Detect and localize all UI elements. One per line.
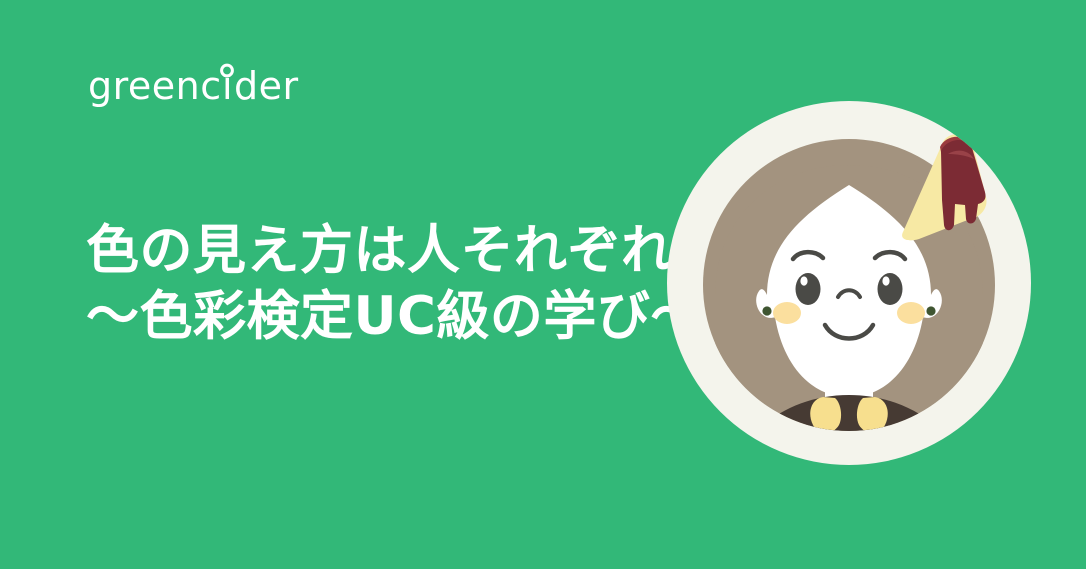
logo-svg: greenc i der — [88, 62, 348, 114]
avatar-left-eye-highlight — [800, 276, 807, 285]
avatar-right-eye-icon — [878, 273, 903, 305]
avatar-left-blush — [773, 302, 801, 324]
avatar-shirt-button-bottom — [844, 466, 854, 467]
logo-text-part-one: greenc — [88, 64, 222, 108]
banner-root: greenc i der 色の見え方は人それぞれ 〜色彩検定UC級の学び〜 — [0, 0, 1086, 569]
headline-line-1: 色の見え方は人それぞれ — [86, 218, 686, 284]
avatar-left-eye-icon — [796, 273, 821, 305]
avatar-svg — [667, 99, 1031, 467]
headline-block: 色の見え方は人それぞれ 〜色彩検定UC級の学び〜 — [86, 218, 686, 350]
avatar-illustration — [667, 99, 1031, 467]
avatar-right-eye-highlight — [882, 276, 889, 285]
avatar-left-earring-icon — [762, 306, 771, 315]
logo-text-part-two: der — [234, 64, 299, 108]
avatar-right-earring-icon — [926, 306, 935, 315]
avatar-right-blush — [897, 302, 925, 324]
headline-line-2: 〜色彩検定UC級の学び〜 — [86, 284, 686, 350]
greencider-logo[interactable]: greenc i der — [88, 62, 348, 108]
